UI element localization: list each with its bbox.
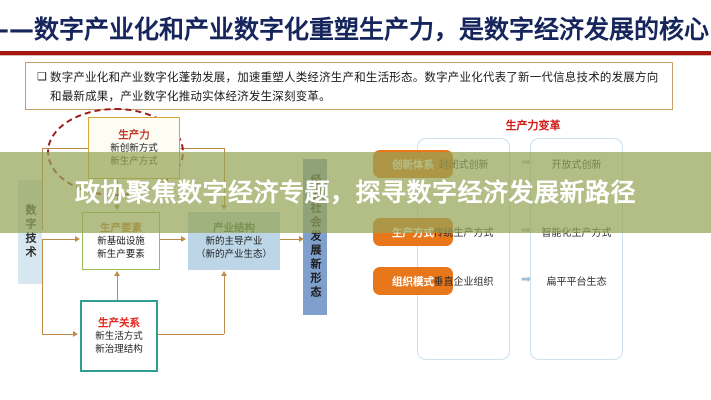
connector-line: [224, 276, 225, 334]
connector-line: [42, 239, 76, 240]
connector-line: [42, 239, 43, 334]
connector-line: [280, 239, 300, 240]
overlay-title: 政协聚焦数字经济专题，探寻数字经济发展新路径: [0, 152, 711, 233]
square-bullet-icon: ❑: [34, 68, 50, 104]
node-line: 新治理结构: [95, 343, 143, 356]
connector-arrow-icon: [73, 331, 78, 337]
right-diagram-title: 生产力变革: [355, 117, 711, 133]
node-line: 新生产要素: [97, 248, 145, 261]
callout-box: ❑ 数字产业化和产业数字化蓬勃发展，加速重塑人类经济生产和生活形态。数字产业化代…: [25, 62, 673, 110]
connector-line: [158, 334, 224, 335]
connector-arrow-icon: [181, 236, 186, 242]
node-line: 新生活方式: [95, 330, 143, 343]
slide-header: ——数字产业化和产业数字化重塑生产力，是数字经济发展的核心: [0, 8, 711, 50]
connector-line: [42, 334, 74, 335]
cell-row2-after: 扁平平台生态: [530, 273, 623, 288]
node-production-relations: 生产关系 新生活方式 新治理结构: [80, 300, 158, 372]
connector-line: [160, 239, 182, 240]
node-line: 新基础设施: [97, 235, 145, 248]
connector-arrow-icon: [221, 271, 227, 276]
callout-text: 数字产业化和产业数字化蓬勃发展，加速重塑人类经济生产和生活形态。数字产业化代表了…: [50, 68, 664, 104]
connector-line: [117, 276, 118, 300]
page-title: ——数字产业化和产业数字化重塑生产力，是数字经济发展的核心: [0, 17, 711, 42]
connector-arrow-icon: [114, 271, 120, 276]
node-line: 新的主导产业: [205, 235, 262, 248]
node-line: （新的产业生态）: [196, 248, 272, 261]
cell-row2-before: 垂直企业组织: [417, 273, 510, 288]
connector-arrow-icon: [75, 236, 80, 242]
node-title: 生产关系: [98, 316, 140, 330]
header-divider-thin: [0, 55, 711, 56]
slide-root: ——数字产业化和产业数字化重塑生产力，是数字经济发展的核心 ❑ 数字产业化和产业…: [0, 0, 711, 400]
node-title: 生产力: [118, 128, 150, 142]
